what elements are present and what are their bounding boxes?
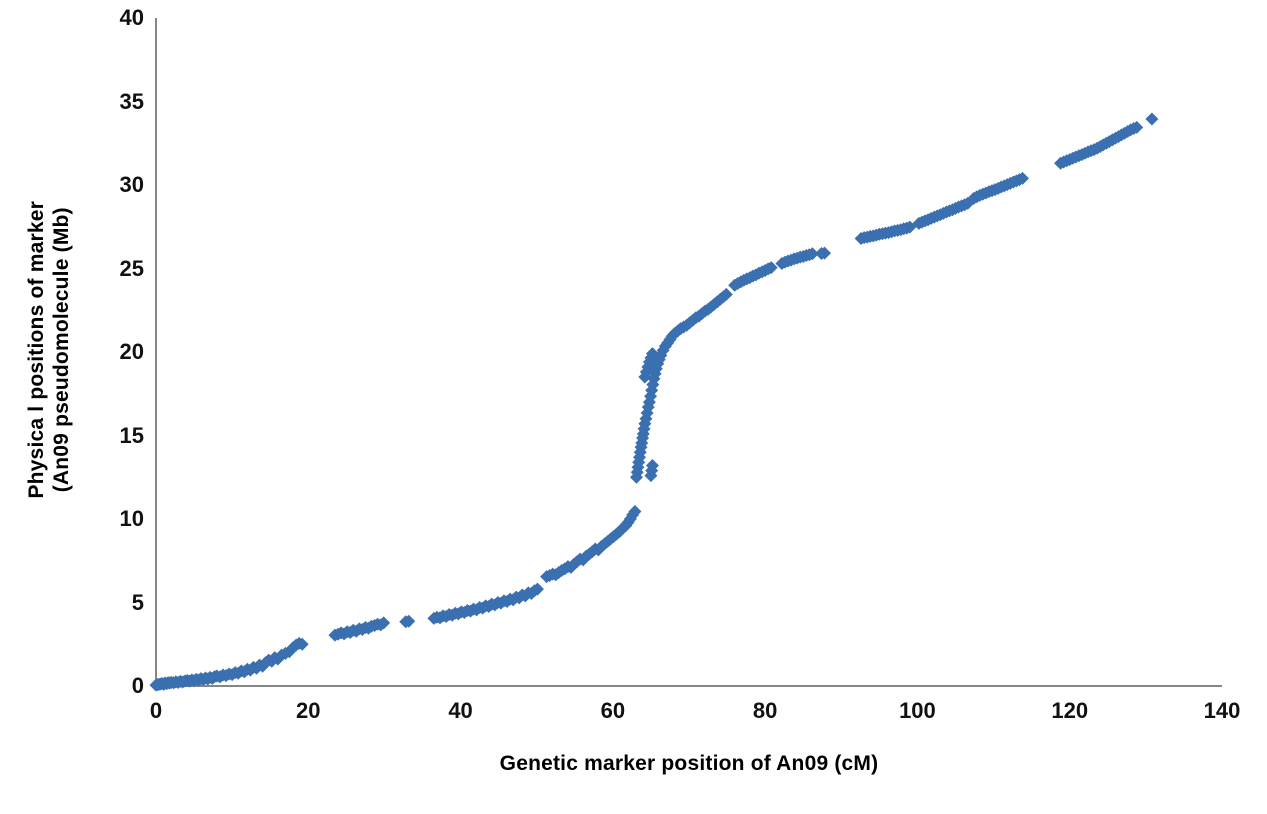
y-tick-label: 30 <box>88 174 144 196</box>
scatter-series-an09-markers <box>156 18 1222 686</box>
x-tick-label: 120 <box>1035 700 1105 722</box>
x-tick-label: 60 <box>578 700 648 722</box>
y-tick-label: 10 <box>88 508 144 530</box>
y-axis-title: Physica l positions of marker (An09 pseu… <box>0 0 100 700</box>
scatter-chart: Physica l positions of marker (An09 pseu… <box>0 0 1267 814</box>
y-axis-tick-labels: 0510152025303540 <box>88 0 144 814</box>
x-tick-label: 40 <box>426 700 496 722</box>
y-axis-title-line1: Physica l positions of marker <box>25 201 50 499</box>
x-tick-label: 20 <box>273 700 343 722</box>
data-point-marker <box>1145 113 1158 126</box>
y-tick-label: 0 <box>88 675 144 697</box>
y-tick-label: 40 <box>88 7 144 29</box>
x-tick-label: 140 <box>1187 700 1257 722</box>
plot-area <box>156 18 1222 686</box>
y-tick-label: 15 <box>88 425 144 447</box>
scatter-series <box>150 113 1159 692</box>
y-tick-label: 25 <box>88 258 144 280</box>
y-tick-label: 35 <box>88 91 144 113</box>
x-tick-label: 0 <box>121 700 191 722</box>
y-tick-label: 20 <box>88 341 144 363</box>
y-tick-label: 5 <box>88 592 144 614</box>
x-axis-title: Genetic marker position of An09 (cM) <box>156 752 1222 776</box>
x-tick-label: 100 <box>882 700 952 722</box>
x-tick-label: 80 <box>730 700 800 722</box>
y-axis-title-line2: (An09 pseudomolecule (Mb) <box>50 201 75 499</box>
